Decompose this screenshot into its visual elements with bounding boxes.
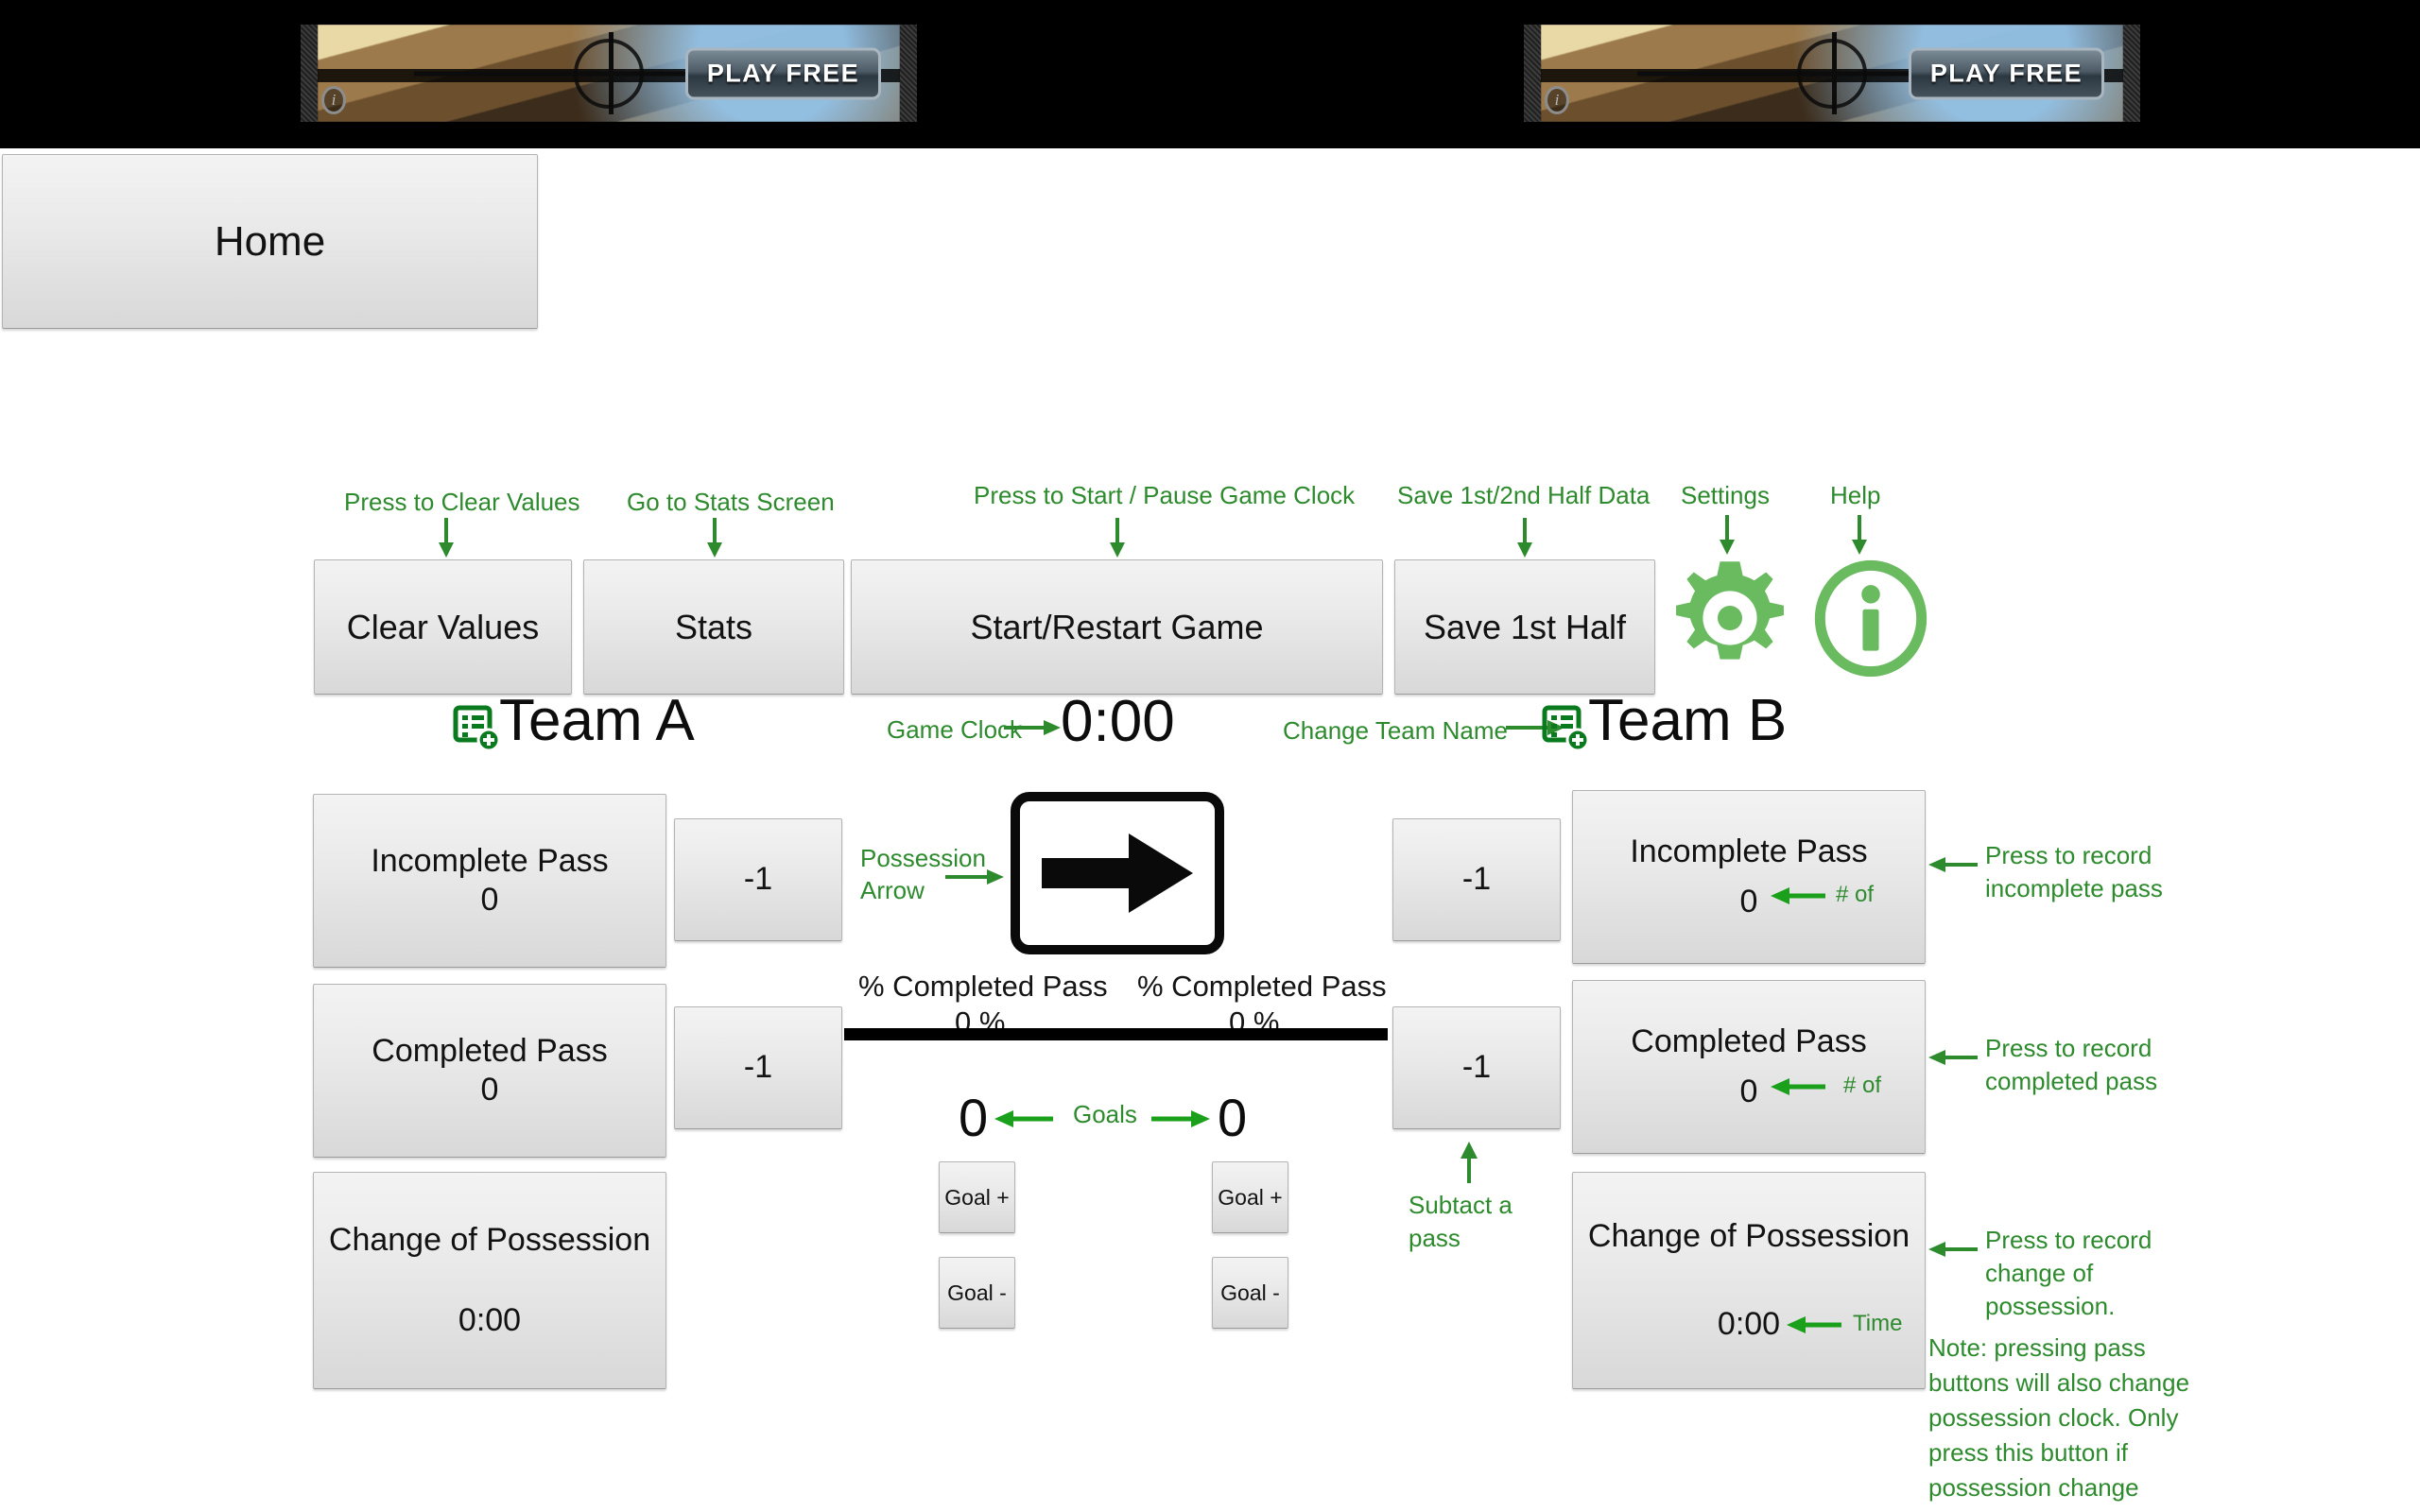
ad-frame-right-edge [2123, 25, 2140, 122]
arrow-right-icon [1042, 824, 1193, 922]
stats-button[interactable]: Stats [583, 559, 844, 695]
annotation-arrow-left-completed-count [1771, 1075, 1825, 1098]
annotation-arrow-up-subtract-pass [1458, 1142, 1480, 1183]
ad-banner-left[interactable]: i PLAY FREE [301, 25, 917, 122]
crosshair-reticle-icon [574, 39, 644, 109]
ad-banner-strip: i PLAY FREE i PLAY FREE [0, 0, 2420, 148]
center-divider [844, 1028, 1388, 1040]
annotation-arrow-left-record-incomplete [1928, 853, 1978, 876]
annotation-record-completed-pass: Press to record completed pass [1985, 1032, 2240, 1098]
team-a-completed-pass-label: Completed Pass [372, 1032, 607, 1071]
app-root: i PLAY FREE i PLAY FREE Home Press to Cl… [0, 0, 2420, 1512]
annotation-arrow-down-settings [1716, 515, 1738, 555]
gear-icon[interactable] [1668, 557, 1791, 684]
annotation-arrow-right-goals-b [1151, 1108, 1210, 1130]
annotation-game-clock: Game Clock [887, 714, 1022, 746]
team-b-completed-pass-button[interactable]: Completed Pass 0 [1572, 980, 1926, 1154]
ad-play-free-button[interactable]: PLAY FREE [685, 47, 881, 99]
annotation-change-team-name: Change Team Name [1283, 715, 1508, 747]
team-b-pct-completed-pass-label: % Completed Pass [1137, 970, 1387, 1004]
annotation-arrow-left-possession-time [1787, 1314, 1841, 1336]
team-a-change-of-possession-label: Change of Possession [329, 1221, 650, 1260]
annotation-note: Note: pressing pass buttons will also ch… [1928, 1331, 2191, 1512]
team-b-incomplete-pass-value: 0 [1740, 883, 1758, 921]
annotation-record-completed-pass-text: Press to record completed pass [1985, 1034, 2157, 1095]
annotation-arrow-right-game-clock [1004, 716, 1061, 739]
team-b-name[interactable]: Team B [1588, 687, 1787, 754]
game-clock-display: 0:00 [1061, 688, 1175, 755]
annotation-arrow-left-incomplete-count [1771, 885, 1825, 907]
team-b-change-of-possession-button[interactable]: Change of Possession 0:00 [1572, 1172, 1926, 1389]
team-b-goal-plus-button[interactable]: Goal + [1212, 1161, 1288, 1233]
team-b-completed-pass-value: 0 [1740, 1073, 1758, 1111]
team-b-goals-value: 0 [1218, 1087, 1247, 1148]
annotation-arrow-down-clear-values [435, 518, 458, 558]
team-b-goal-minus-button[interactable]: Goal - [1212, 1257, 1288, 1329]
annotation-settings: Settings [1681, 480, 1770, 511]
ad-frame-right-edge [900, 25, 917, 122]
annotation-start-restart: Press to Start / Pause Game Clock [974, 480, 1355, 511]
annotation-arrow-left-record-completed [1928, 1046, 1978, 1069]
team-a-name[interactable]: Team A [499, 687, 695, 754]
team-b-change-of-possession-time: 0:00 [1718, 1305, 1780, 1344]
team-a-change-name-icon[interactable] [453, 703, 502, 757]
team-b-change-of-possession-label: Change of Possession [1588, 1217, 1910, 1256]
annotation-record-incomplete-pass-text: Press to record incomplete pass [1985, 841, 2163, 902]
team-a-goal-minus-button[interactable]: Goal - [939, 1257, 1015, 1329]
team-b-incomplete-pass-label: Incomplete Pass [1630, 833, 1867, 871]
possession-arrow-button[interactable] [1011, 792, 1224, 954]
team-b-completed-pass-label: Completed Pass [1631, 1022, 1866, 1061]
team-a-completed-pass-value: 0 [481, 1071, 499, 1109]
annotation-clear-values: Press to Clear Values [344, 487, 580, 518]
annotation-arrow-down-save-half [1513, 518, 1536, 558]
save-first-half-button[interactable]: Save 1st Half [1394, 559, 1655, 695]
annotation-hash-of-completed: # of [1843, 1072, 1881, 1101]
annotation-save-half: Save 1st/2nd Half Data [1397, 480, 1650, 511]
annotation-subtract-pass: Subtact a pass [1409, 1189, 1531, 1255]
annotation-arrow-left-record-possession [1928, 1238, 1978, 1261]
annotation-record-change-of-possession: Press to record change of possession. [1985, 1224, 2203, 1323]
team-a-minus-one-completed-button[interactable]: -1 [674, 1006, 842, 1129]
team-a-goals-value: 0 [959, 1087, 988, 1148]
annotation-subtract-pass-text: Subtact a pass [1409, 1191, 1512, 1252]
annotation-stats: Go to Stats Screen [627, 487, 835, 518]
info-icon[interactable] [1813, 559, 1928, 682]
annotation-record-change-of-possession-text: Press to record change of possession. [1985, 1226, 2152, 1320]
ad-info-icon[interactable]: i [1545, 86, 1569, 114]
annotation-possession-arrow-line2: Arrow [860, 875, 925, 906]
annotation-arrow-down-help [1848, 515, 1871, 555]
annotation-record-incomplete-pass: Press to record incomplete pass [1985, 839, 2240, 905]
team-a-incomplete-pass-value: 0 [481, 881, 499, 919]
ad-frame-left-edge [1524, 25, 1541, 122]
annotation-goals: Goals [1073, 1099, 1137, 1130]
team-a-completed-pass-button[interactable]: Completed Pass 0 [313, 984, 666, 1158]
annotation-arrow-right-possession [945, 866, 1004, 888]
home-button[interactable]: Home [2, 154, 538, 329]
crosshair-reticle-icon [1797, 39, 1867, 109]
ad-banner-right[interactable]: i PLAY FREE [1524, 25, 2140, 122]
annotation-arrow-down-start-restart [1106, 518, 1129, 558]
team-a-change-of-possession-time: 0:00 [458, 1301, 521, 1340]
team-a-incomplete-pass-label: Incomplete Pass [371, 842, 608, 881]
start-restart-game-button[interactable]: Start/Restart Game [851, 559, 1383, 695]
annotation-arrow-left-goals-a [994, 1108, 1053, 1130]
annotation-help: Help [1830, 480, 1880, 511]
clear-values-button[interactable]: Clear Values [314, 559, 572, 695]
ad-play-free-button[interactable]: PLAY FREE [1909, 47, 2104, 99]
team-b-incomplete-pass-button[interactable]: Incomplete Pass 0 [1572, 790, 1926, 964]
annotation-arrow-down-stats [703, 518, 726, 558]
annotation-time-label: Time [1853, 1310, 1902, 1339]
team-b-minus-one-incomplete-button[interactable]: -1 [1392, 818, 1561, 941]
ad-frame-left-edge [301, 25, 318, 122]
team-a-minus-one-incomplete-button[interactable]: -1 [674, 818, 842, 941]
team-a-pct-completed-pass-label: % Completed Pass [858, 970, 1108, 1004]
ad-info-icon[interactable]: i [321, 86, 346, 114]
team-a-goal-plus-button[interactable]: Goal + [939, 1161, 1015, 1233]
team-a-incomplete-pass-button[interactable]: Incomplete Pass 0 [313, 794, 666, 968]
team-b-minus-one-completed-button[interactable]: -1 [1392, 1006, 1561, 1129]
annotation-hash-of-incomplete: # of [1836, 881, 1874, 910]
team-b-change-name-icon[interactable] [1542, 703, 1591, 757]
team-a-change-of-possession-button[interactable]: Change of Possession 0:00 [313, 1172, 666, 1389]
